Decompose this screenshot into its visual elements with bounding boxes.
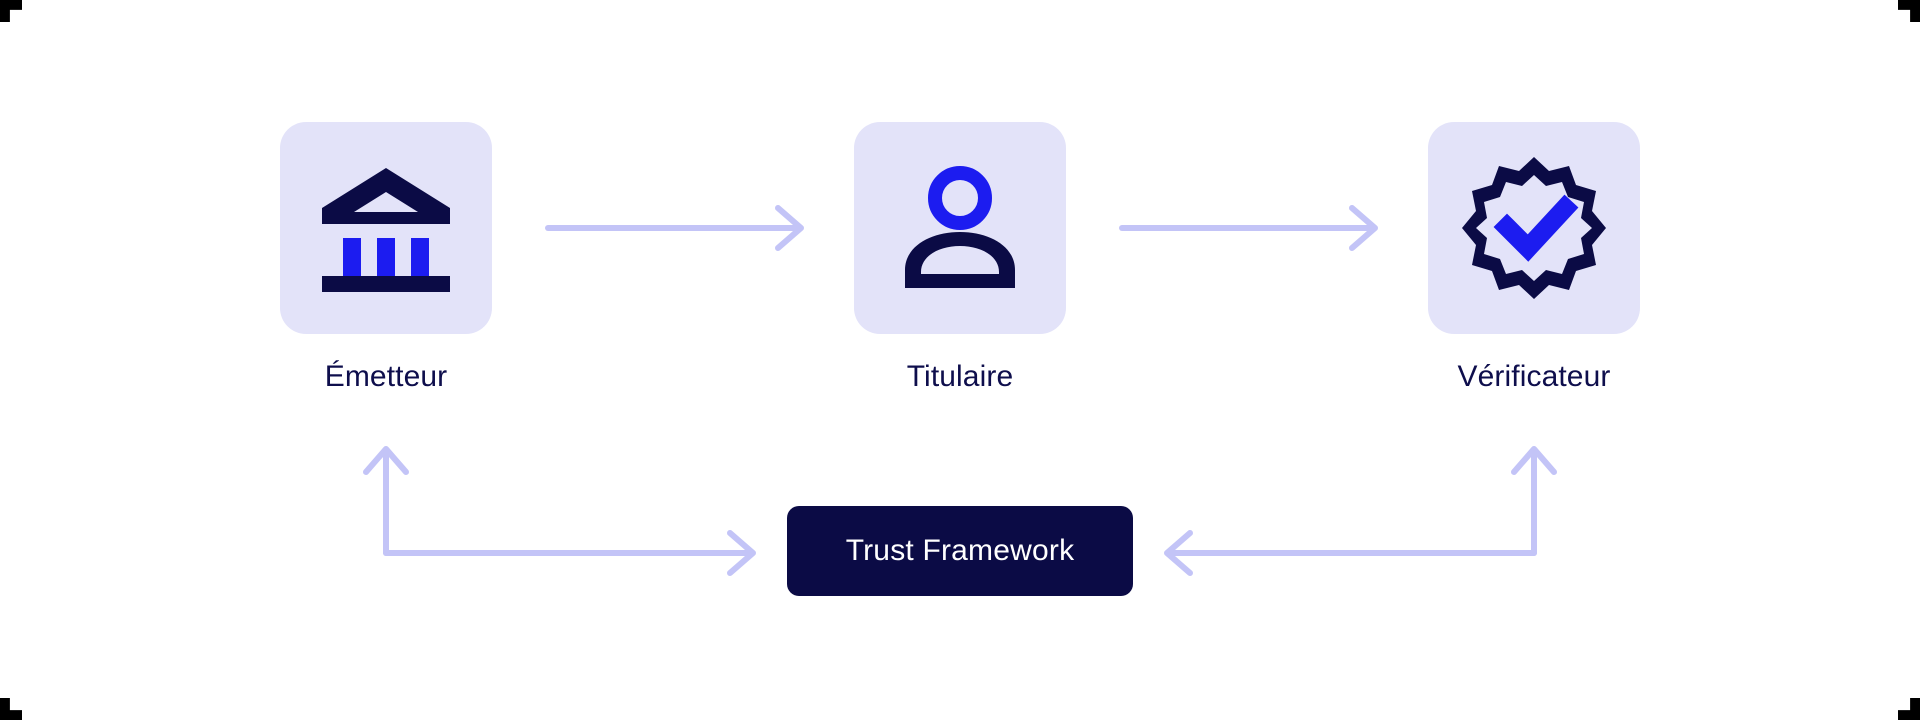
corner-mark-bottom-right bbox=[1898, 698, 1920, 720]
person-icon bbox=[899, 166, 1021, 290]
arrow-issuer-to-framework bbox=[386, 533, 753, 573]
actor-holder-label: Titulaire bbox=[907, 360, 1014, 393]
actor-verifier-card[interactable] bbox=[1428, 122, 1640, 334]
verified-badge-icon bbox=[1461, 155, 1607, 301]
diagram-canvas: Émetteur Titulaire Vérificateur bbox=[0, 0, 1920, 720]
actor-holder[interactable]: Titulaire bbox=[854, 122, 1066, 393]
actor-verifier-label: Vérificateur bbox=[1458, 360, 1611, 393]
corner-mark-top-right bbox=[1898, 0, 1920, 22]
actor-verifier[interactable]: Vérificateur bbox=[1428, 122, 1640, 393]
arrow-issuer-to-holder bbox=[548, 208, 801, 248]
trust-framework-node[interactable]: Trust Framework bbox=[787, 506, 1133, 596]
trust-framework-label: Trust Framework bbox=[846, 534, 1075, 568]
actor-holder-card[interactable] bbox=[854, 122, 1066, 334]
arrow-framework-to-issuer bbox=[366, 449, 406, 553]
arrow-framework-to-verifier bbox=[1514, 449, 1554, 553]
arrow-verifier-to-framework bbox=[1167, 533, 1534, 573]
corner-mark-bottom-left bbox=[0, 698, 22, 720]
actor-issuer-label: Émetteur bbox=[325, 360, 448, 393]
corner-mark-top-left bbox=[0, 0, 22, 22]
arrow-holder-to-verifier bbox=[1122, 208, 1375, 248]
actor-issuer-card[interactable] bbox=[280, 122, 492, 334]
actor-issuer[interactable]: Émetteur bbox=[280, 122, 492, 393]
bank-icon bbox=[320, 164, 452, 292]
